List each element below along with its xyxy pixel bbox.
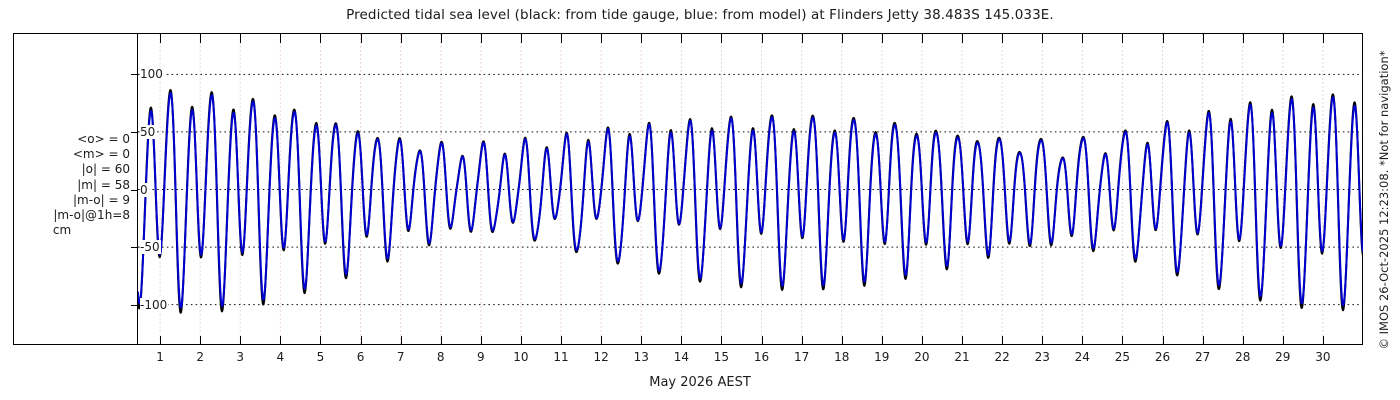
x-tick-mark xyxy=(721,34,722,43)
y-tick-mark xyxy=(131,247,138,248)
x-tick-label: 15 xyxy=(714,350,729,364)
x-tick-mark xyxy=(1122,34,1123,43)
series-model xyxy=(138,93,1363,307)
x-tick-mark xyxy=(882,336,883,345)
x-tick-mark xyxy=(1243,336,1244,345)
x-tick-mark xyxy=(882,34,883,43)
x-tick-mark xyxy=(1163,34,1164,43)
x-tick-mark xyxy=(361,336,362,345)
x-tick-label: 1 xyxy=(156,350,164,364)
y-tick-mark xyxy=(131,190,138,191)
x-tick-mark xyxy=(1203,336,1204,345)
x-tick-mark xyxy=(401,34,402,43)
x-tick-mark xyxy=(721,336,722,345)
y-tick-mark xyxy=(131,305,138,306)
x-tick-label: 25 xyxy=(1115,350,1130,364)
x-tick-mark xyxy=(1163,336,1164,345)
x-tick-mark xyxy=(280,336,281,345)
plot-area xyxy=(138,34,1363,345)
x-tick-label: 12 xyxy=(593,350,608,364)
x-tick-mark xyxy=(401,336,402,345)
x-tick-mark xyxy=(1002,34,1003,43)
x-tick-mark xyxy=(240,34,241,43)
x-tick-mark xyxy=(160,336,161,345)
stat-diff-1h: |m-o|@1h=8 xyxy=(8,208,130,223)
x-tick-mark xyxy=(561,336,562,345)
x-tick-mark xyxy=(1323,34,1324,43)
stat-amp-model: |m| = 58 xyxy=(8,178,130,193)
x-tick-mark xyxy=(200,34,201,43)
x-tick-mark xyxy=(481,336,482,345)
x-tick-mark xyxy=(441,336,442,345)
x-tick-label: 16 xyxy=(754,350,769,364)
x-tick-mark xyxy=(1042,336,1043,345)
x-tick-mark xyxy=(521,34,522,43)
y-tick-label: -100 xyxy=(140,298,168,312)
x-tick-label: 30 xyxy=(1315,350,1330,364)
x-tick-mark xyxy=(1243,34,1244,43)
x-tick-mark xyxy=(1082,336,1083,345)
copyright-credit: © IMOS 26-Oct-2025 12:23:08. *Not for na… xyxy=(1372,0,1396,400)
x-tick-mark xyxy=(320,34,321,43)
x-tick-mark xyxy=(200,336,201,345)
x-tick-mark xyxy=(1082,34,1083,43)
x-tick-mark xyxy=(641,34,642,43)
x-tick-label: 29 xyxy=(1275,350,1290,364)
tidal-chart: Predicted tidal sea level (black: from t… xyxy=(0,0,1400,400)
x-axis-title: May 2026 AEST xyxy=(0,375,1400,390)
x-tick-mark xyxy=(1122,336,1123,345)
x-tick-label: 6 xyxy=(357,350,365,364)
x-tick-label: 5 xyxy=(317,350,325,364)
x-tick-mark xyxy=(962,336,963,345)
x-tick-mark xyxy=(842,336,843,345)
page-title: Predicted tidal sea level (black: from t… xyxy=(0,7,1400,23)
x-tick-mark xyxy=(922,34,923,43)
y-tick-label: 0 xyxy=(140,183,149,197)
x-tick-mark xyxy=(802,34,803,43)
x-tick-mark xyxy=(762,336,763,345)
x-tick-mark xyxy=(521,336,522,345)
x-tick-label: 4 xyxy=(277,350,285,364)
x-tick-mark xyxy=(1323,336,1324,345)
stat-mean-model: <m> = 0 xyxy=(8,147,130,162)
y-tick-label: 100 xyxy=(140,67,164,81)
y-tick-mark xyxy=(131,132,138,133)
x-tick-mark xyxy=(842,34,843,43)
x-tick-label: 13 xyxy=(634,350,649,364)
x-tick-label: 7 xyxy=(397,350,405,364)
x-tick-mark xyxy=(240,336,241,345)
x-tick-mark xyxy=(1203,34,1204,43)
x-tick-mark xyxy=(762,34,763,43)
x-tick-label: 23 xyxy=(1035,350,1050,364)
x-tick-mark xyxy=(922,336,923,345)
copyright-text: © IMOS 26-Oct-2025 12:23:08. *Not for na… xyxy=(1377,51,1391,350)
x-tick-mark xyxy=(1002,336,1003,345)
x-tick-mark xyxy=(962,34,963,43)
x-tick-label: 2 xyxy=(196,350,204,364)
x-tick-label: 22 xyxy=(994,350,1009,364)
x-tick-label: 18 xyxy=(834,350,849,364)
x-tick-label: 11 xyxy=(553,350,568,364)
x-tick-label: 8 xyxy=(437,350,445,364)
x-tick-mark xyxy=(802,336,803,345)
x-tick-label: 28 xyxy=(1235,350,1250,364)
stat-diff: |m-o| = 9 xyxy=(8,193,130,208)
stat-amp-obs: |o| = 60 xyxy=(8,162,130,177)
x-tick-mark xyxy=(280,34,281,43)
x-tick-mark xyxy=(601,34,602,43)
x-tick-mark xyxy=(320,336,321,345)
x-tick-label: 14 xyxy=(674,350,689,364)
x-tick-label: 24 xyxy=(1075,350,1090,364)
x-tick-mark xyxy=(561,34,562,43)
x-tick-label: 9 xyxy=(477,350,485,364)
x-tick-mark xyxy=(681,336,682,345)
x-tick-label: 21 xyxy=(954,350,969,364)
y-tick-label: -50 xyxy=(140,240,161,254)
x-tick-label: 20 xyxy=(914,350,929,364)
x-tick-label: 10 xyxy=(513,350,528,364)
x-tick-mark xyxy=(361,34,362,43)
x-tick-mark xyxy=(1042,34,1043,43)
x-tick-mark xyxy=(601,336,602,345)
x-tick-mark xyxy=(1283,336,1284,345)
x-tick-label: 17 xyxy=(794,350,809,364)
x-tick-mark xyxy=(160,34,161,43)
stat-mean-obs: <o> = 0 xyxy=(8,132,130,147)
tidal-series-svg xyxy=(138,34,1363,345)
x-tick-mark xyxy=(441,34,442,43)
y-tick-label: 50 xyxy=(140,125,156,139)
x-tick-label: 3 xyxy=(236,350,244,364)
x-tick-mark xyxy=(641,336,642,345)
x-tick-label: 26 xyxy=(1155,350,1170,364)
x-tick-label: 27 xyxy=(1195,350,1210,364)
x-tick-label: 19 xyxy=(874,350,889,364)
x-tick-mark xyxy=(681,34,682,43)
stat-units: cm xyxy=(8,223,130,238)
x-tick-mark xyxy=(481,34,482,43)
statistics-block: <o> = 0 <m> = 0 |o| = 60 |m| = 58 |m-o| … xyxy=(8,132,130,238)
x-tick-mark xyxy=(1283,34,1284,43)
y-tick-mark xyxy=(131,74,138,75)
